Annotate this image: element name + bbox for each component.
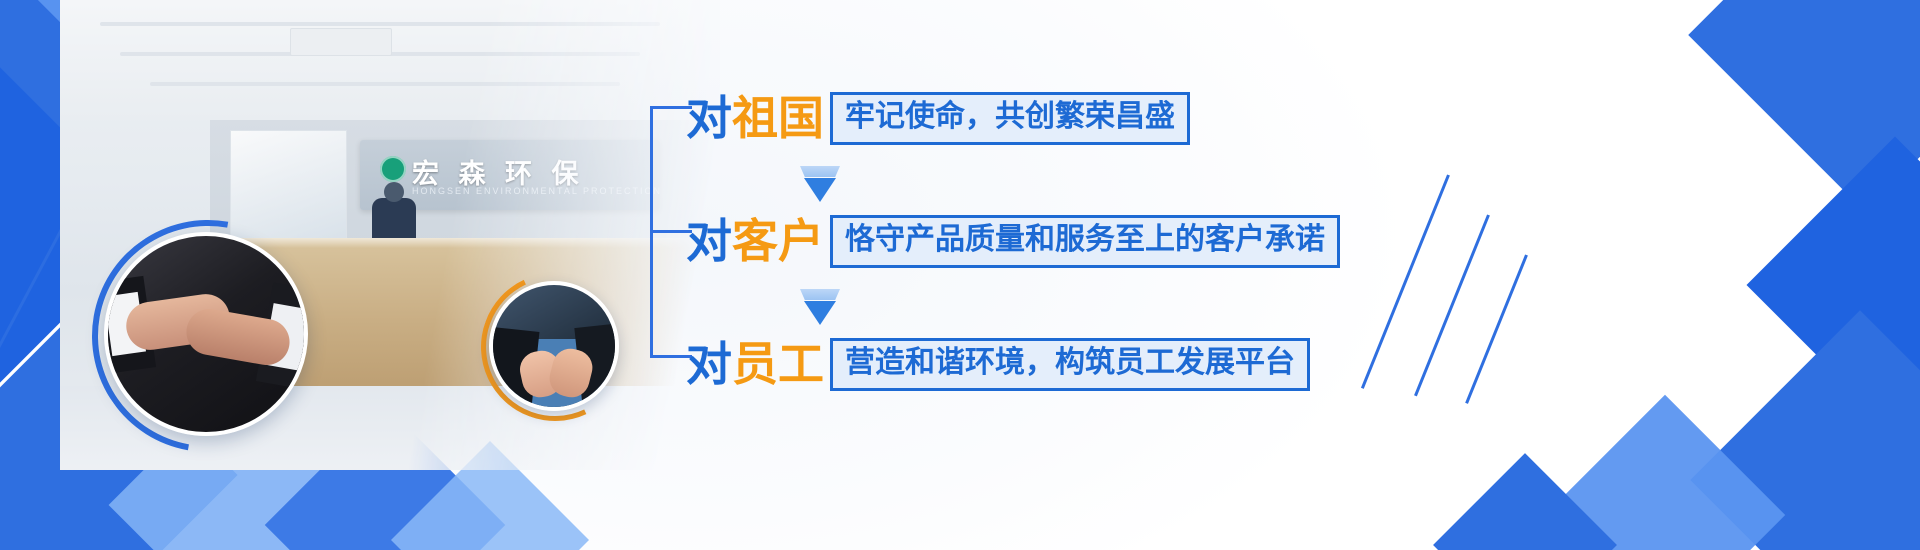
receptionist-head bbox=[384, 182, 404, 202]
pledge-lead-prefix: 对 bbox=[686, 337, 732, 391]
pledge-lead-highlight: 祖国 bbox=[732, 91, 824, 145]
pledge-list: 对祖国 牢记使命，共创繁荣昌盛 对客户 恪守产品质量和服务至上的客户承诺 对员工… bbox=[650, 70, 1660, 400]
pledge-lead-prefix: 对 bbox=[686, 91, 732, 145]
down-arrow-icon bbox=[800, 166, 840, 202]
pledge-lead-prefix: 对 bbox=[686, 214, 732, 268]
pledge-lead-highlight: 客户 bbox=[732, 214, 824, 268]
pledge-row-employee: 对员工 营造和谐环境，构筑员工发展平台 bbox=[686, 338, 1310, 391]
globe-leaf-logo-icon bbox=[380, 156, 406, 182]
pledge-row-customer: 对客户 恪守产品质量和服务至上的客户承诺 bbox=[686, 215, 1340, 268]
pledge-lead-employee: 对员工 bbox=[686, 341, 824, 387]
pledge-lead-highlight: 员工 bbox=[732, 337, 824, 391]
pledge-row-country: 对祖国 牢记使命，共创繁荣昌盛 bbox=[686, 92, 1190, 145]
pledge-lead-customer: 对客户 bbox=[686, 218, 824, 264]
company-name-subtitle: HONGSEN ENVIRONMENTAL PROTECTION bbox=[412, 186, 662, 196]
pledge-lead-country: 对祖国 bbox=[686, 95, 824, 141]
pledge-statement-customer: 恪守产品质量和服务至上的客户承诺 bbox=[830, 215, 1340, 268]
ceiling-light-panel bbox=[290, 28, 392, 56]
handshake-photo bbox=[104, 232, 308, 436]
down-arrow-icon bbox=[800, 289, 840, 325]
ceiling bbox=[60, 0, 720, 120]
company-values-banner: 宏 森 环 保 HONGSEN ENVIRONMENTAL PROTECTION bbox=[0, 0, 1920, 550]
pledge-statement-employee: 营造和谐环境，构筑员工发展平台 bbox=[830, 338, 1310, 391]
pledge-statement-country: 牢记使命，共创繁荣昌盛 bbox=[830, 92, 1190, 145]
glass-partition bbox=[230, 130, 347, 242]
team-photo bbox=[489, 281, 619, 411]
